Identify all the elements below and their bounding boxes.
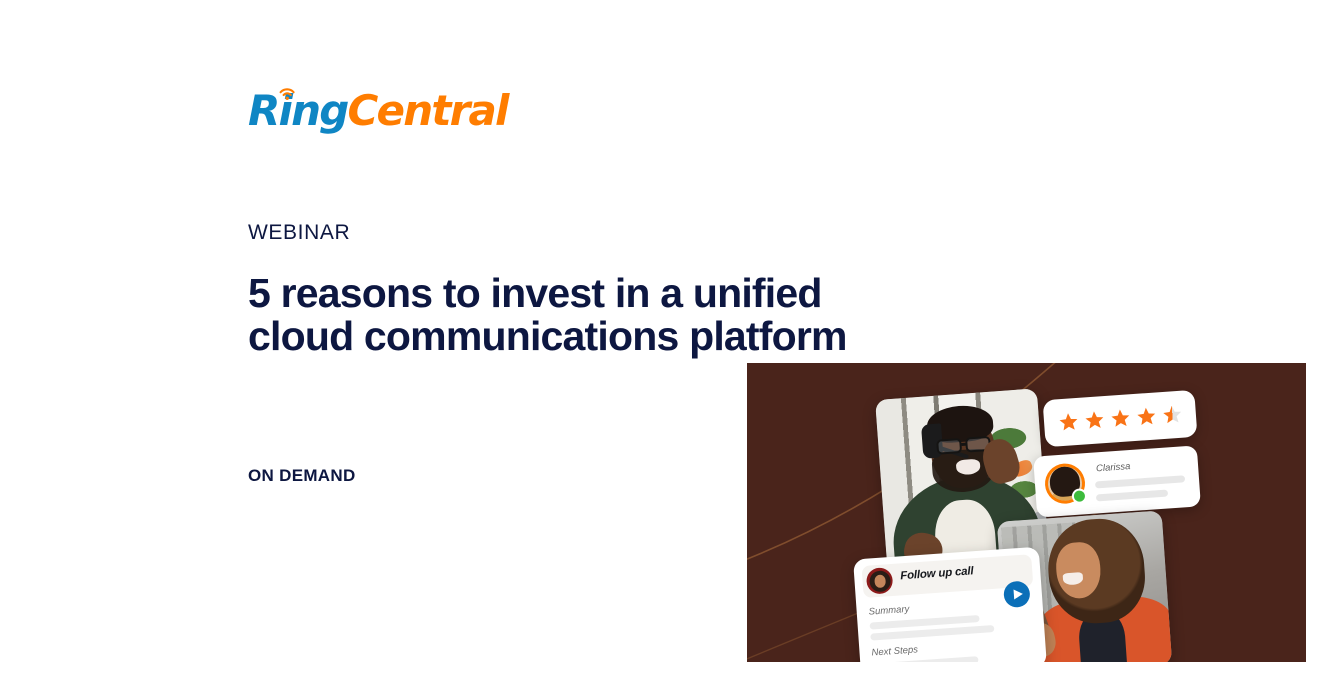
availability-label: ON DEMAND (248, 466, 356, 486)
play-icon (1014, 589, 1024, 600)
star-icon-1 (1057, 411, 1079, 433)
summary-label: Summary (868, 604, 909, 618)
logo-central-text: Central (348, 86, 508, 135)
hero-image-panel: Clarissa Follow up ca (747, 363, 1306, 662)
webinar-landing-page: RingCentral WEBINAR 5 reasons to invest … (0, 0, 1340, 700)
contact-placeholder-line (1095, 475, 1185, 488)
content-type-eyebrow: WEBINAR (248, 221, 350, 245)
star-icon-2 (1083, 409, 1105, 431)
logo-wordmark: RingCentral (248, 90, 508, 132)
star-icon-3 (1109, 407, 1131, 429)
wifi-signal-icon (279, 87, 296, 100)
page-title: 5 reasons to invest in a unified cloud c… (248, 272, 848, 357)
next-steps-label: Next Steps (871, 644, 918, 658)
rating-card (1043, 390, 1198, 447)
star-half-icon-5 (1161, 404, 1183, 426)
play-button[interactable] (1003, 580, 1031, 608)
contact-name: Clarissa (1096, 461, 1131, 474)
contact-placeholder-line (1096, 489, 1168, 501)
star-icon-4 (1135, 405, 1157, 427)
ringcentral-logo[interactable]: RingCentral (248, 88, 508, 134)
avatar-image (868, 570, 890, 592)
contact-card[interactable]: Clarissa (1033, 445, 1201, 517)
logo-ring-text: Ring (248, 86, 348, 135)
presence-online-badge (1071, 488, 1087, 504)
avatar-face (874, 574, 886, 588)
followup-call-card[interactable]: Follow up call Summary Next Steps (853, 547, 1047, 662)
lens-left (936, 438, 962, 455)
